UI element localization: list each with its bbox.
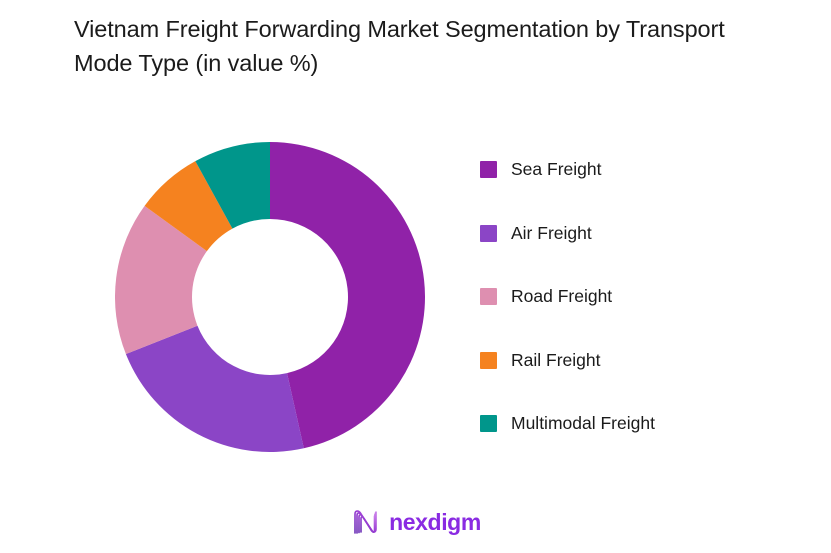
nexdigm-logo-icon [350,508,380,536]
brand-name: nexdigm [389,511,481,534]
legend-item[interactable]: Air Freight [480,202,780,266]
legend-item-label: Rail Freight [511,352,600,370]
donut-chart-svg [115,142,425,452]
chart-title: Vietnam Freight Forwarding Market Segmen… [74,12,764,80]
legend-item[interactable]: Rail Freight [480,329,780,393]
donut-slice-group [115,142,425,452]
donut-chart [115,142,425,452]
legend-swatch-icon [480,225,497,242]
brand-footer: nexdigm [0,499,831,545]
legend-item[interactable]: Multimodal Freight [480,392,780,456]
legend-item[interactable]: Sea Freight [480,138,780,202]
legend-item-label: Air Freight [511,225,592,243]
donut-slice[interactable] [126,326,304,452]
chart-legend: Sea FreightAir FreightRoad FreightRail F… [480,138,780,456]
legend-swatch-icon [480,161,497,178]
legend-item-label: Sea Freight [511,161,601,179]
legend-swatch-icon [480,415,497,432]
chart-card: Vietnam Freight Forwarding Market Segmen… [0,0,831,553]
legend-item-label: Multimodal Freight [511,415,655,433]
legend-swatch-icon [480,288,497,305]
legend-swatch-icon [480,352,497,369]
legend-item-label: Road Freight [511,288,612,306]
legend-item[interactable]: Road Freight [480,265,780,329]
